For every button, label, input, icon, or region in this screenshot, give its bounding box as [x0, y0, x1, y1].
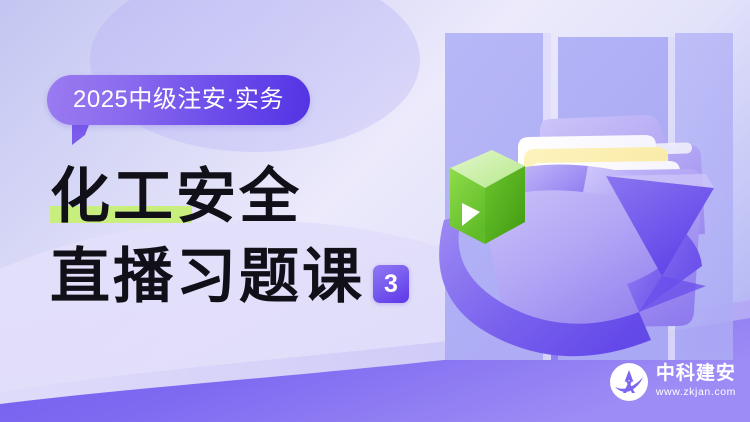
headline-line-1: 化工安全: [50, 167, 302, 227]
course-category-label: 2025中级注安·实务: [73, 88, 284, 112]
badge-tail: [72, 122, 90, 145]
headline-line-2-row: 直播习题课 3: [50, 235, 409, 307]
headline-line-1-row: 化工安全: [50, 155, 409, 227]
folder-illustration: [400, 0, 750, 360]
course-category-badge: 2025中级注安·实务: [47, 75, 310, 125]
zkjan-circle-logo-icon: [609, 362, 649, 402]
headline-line-2: 直播习题课: [50, 247, 365, 307]
brand-url: www.zkjan.com: [656, 386, 736, 400]
episode-number-badge: 3: [373, 265, 409, 303]
course-banner: 2025中级注安·实务 化工安全 直播习题课 3: [0, 0, 750, 422]
brand-name: 中科建安: [656, 364, 736, 384]
brand-text-group: 中科建安 www.zkjan.com: [656, 364, 736, 400]
headline-group: 化工安全 直播习题课 3: [50, 155, 409, 307]
brand-logo[interactable]: 中科建安 www.zkjan.com: [609, 362, 736, 402]
